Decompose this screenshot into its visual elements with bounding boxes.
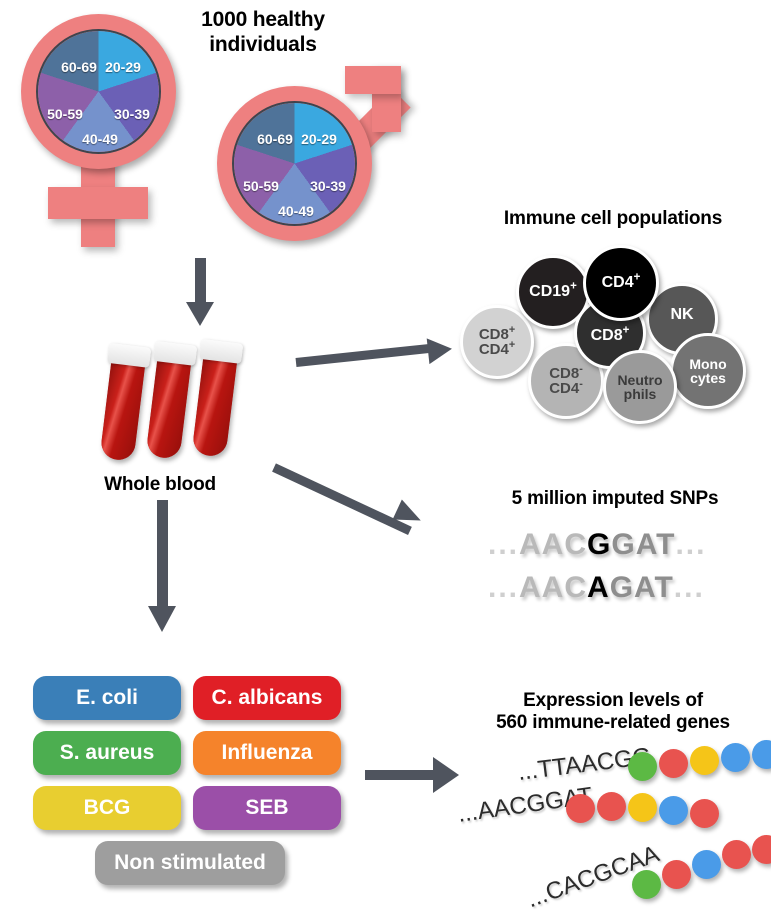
pie-label-40-49: 40-49 — [278, 203, 314, 219]
immune-cell-label: CD8+ CD4+ — [479, 327, 515, 358]
tube-body — [146, 348, 193, 459]
arrow-shaft — [365, 770, 435, 780]
tube-body — [100, 350, 147, 461]
arrow-head — [427, 336, 454, 364]
tube-blood-fill — [146, 348, 193, 459]
stimulus-influenza[interactable]: Influenza — [193, 731, 341, 775]
male-age-pie-chart: 20-29 30-39 40-49 50-59 60-69 — [232, 101, 357, 226]
expression-strands: ...TTAACGG ...AACGGAT ...CACGCAA — [440, 745, 771, 915]
arrow-shaft — [272, 463, 412, 535]
tube-body — [192, 346, 239, 457]
female-symbol-crossbar — [48, 187, 148, 219]
pie-label-30-39: 30-39 — [310, 178, 346, 194]
immune-cell-label: Neutro phils — [617, 373, 662, 402]
female-gender-symbol: 20-29 30-39 40-49 50-59 60-69 — [8, 12, 188, 247]
snp-right-bases: GAT — [610, 571, 674, 604]
expression-bead — [632, 870, 661, 899]
arrow-shaft — [296, 344, 434, 367]
snp-left-bases: AAC — [519, 528, 587, 561]
immune-cell-cd4: CD4+ — [583, 245, 659, 321]
arrow-down-cohort-to-blood — [182, 258, 222, 330]
expression-title-line2: 560 immune-related genes — [455, 712, 771, 734]
pie-label-50-59: 50-59 — [243, 178, 279, 194]
expression-bead — [659, 749, 688, 778]
immune-cell-label: CD8- CD4- — [549, 366, 583, 397]
gene-strand-2: ...AACGGAT — [458, 783, 758, 838]
immune-cell-cluster: CD8+ CD4+ CD19+ CD4+ NK CD8+ CD8- CD4- N… — [458, 245, 758, 420]
expression-bead — [722, 840, 751, 869]
male-gender-symbol: 20-29 30-39 40-49 50-59 60-69 — [212, 62, 422, 247]
expression-bead — [597, 792, 626, 821]
snp-variant-base: G — [587, 528, 611, 561]
cd8n-cd4n-line2: CD4- — [549, 380, 583, 397]
whole-blood-sample-group — [100, 340, 280, 470]
snp-right-bases: GAT — [611, 528, 675, 561]
blood-tube — [146, 348, 193, 459]
stimuli-panel: E. coli C. albicans S. aureus Influenza … — [33, 676, 353, 896]
arrow-shaft — [195, 258, 206, 306]
snp-prefix-dots: ... — [488, 528, 519, 561]
expression-bead — [690, 799, 719, 828]
female-age-pie-chart: 20-29 30-39 40-49 50-59 60-69 — [36, 29, 161, 154]
tube-blood-fill — [192, 346, 239, 457]
tube-blood-fill — [100, 350, 147, 461]
expression-bead — [752, 835, 771, 864]
snp-left-bases: AAC — [519, 571, 587, 604]
pie-label-50-59: 50-59 — [47, 106, 83, 122]
arrow-down-blood-to-stimuli — [143, 500, 183, 640]
pie-label-30-39: 30-39 — [114, 106, 150, 122]
expression-bead — [721, 743, 750, 772]
expression-bead — [692, 850, 721, 879]
pie-label-20-29: 20-29 — [301, 131, 337, 147]
stimulus-non-stimulated[interactable]: Non stimulated — [95, 841, 285, 885]
immune-cell-cd8p-cd4p: CD8+ CD4+ — [460, 305, 534, 379]
snp-allele-2: ...AACAGAT... — [488, 571, 705, 605]
stimulus-c-albicans[interactable]: C. albicans — [193, 676, 341, 720]
immune-cell-label: CD4+ — [602, 275, 641, 291]
blood-tube — [100, 350, 147, 461]
snp-suffix-dots: ... — [674, 571, 705, 604]
cohort-title-line1: 1000 healthy — [168, 8, 358, 33]
arrow-blood-to-immune-cells — [296, 330, 466, 380]
cohort-title: 1000 healthy individuals — [168, 8, 358, 58]
arrow-head — [148, 606, 176, 632]
stimulus-e-coli[interactable]: E. coli — [33, 676, 181, 720]
snp-prefix-dots: ... — [488, 571, 519, 604]
pie-label-60-69: 60-69 — [61, 59, 97, 75]
snp-variant-base: A — [587, 571, 610, 604]
arrow-shaft — [157, 500, 168, 610]
expression-title-line1: Expression levels of — [455, 690, 771, 712]
figure-canvas: 1000 healthy individuals 20-29 30-39 40-… — [0, 0, 771, 922]
expression-bead — [628, 793, 657, 822]
immune-cell-neutrophils: Neutro phils — [603, 350, 677, 424]
cd8p-cd4p-line2: CD4+ — [479, 341, 515, 358]
gene-strand-3: ...CACGCAA — [528, 835, 771, 915]
pie-label-40-49: 40-49 — [82, 131, 118, 147]
male-symbol-arrow-head-horizontal — [345, 66, 401, 94]
expression-title: Expression levels of 560 immune-related … — [455, 690, 771, 735]
blood-tube — [192, 346, 239, 457]
arrow-blood-to-snps — [272, 455, 462, 550]
immune-cell-label: Mono cytes — [689, 357, 726, 386]
expression-bead — [659, 796, 688, 825]
expression-bead — [690, 746, 719, 775]
immune-cell-monocytes: Mono cytes — [670, 333, 746, 409]
snp-sequence-block: ...AACGGAT... ...AACAGAT... — [488, 528, 748, 618]
arrow-head — [186, 302, 214, 326]
snp-allele-1: ...AACGGAT... — [488, 528, 706, 562]
expression-bead — [566, 794, 595, 823]
immune-cell-label: CD8+ — [591, 328, 630, 344]
expression-bead — [628, 752, 657, 781]
pie-label-60-69: 60-69 — [257, 131, 293, 147]
stimulus-seb[interactable]: SEB — [193, 786, 341, 830]
stimulus-s-aureus[interactable]: S. aureus — [33, 731, 181, 775]
snp-suffix-dots: ... — [675, 528, 706, 561]
mono-line2: cytes — [690, 370, 726, 386]
whole-blood-label: Whole blood — [80, 474, 240, 496]
stimulus-bcg[interactable]: BCG — [33, 786, 181, 830]
cohort-title-line2: individuals — [168, 33, 358, 58]
immune-cell-label: NK — [670, 307, 693, 323]
expression-bead — [662, 860, 691, 889]
neutro-line2: phils — [624, 386, 657, 402]
immune-cell-label: CD19+ — [529, 284, 577, 300]
snps-title: 5 million imputed SNPs — [465, 488, 765, 510]
expression-bead — [752, 740, 771, 769]
pie-label-20-29: 20-29 — [105, 59, 141, 75]
immune-cell-populations-title: Immune cell populations — [458, 208, 768, 230]
